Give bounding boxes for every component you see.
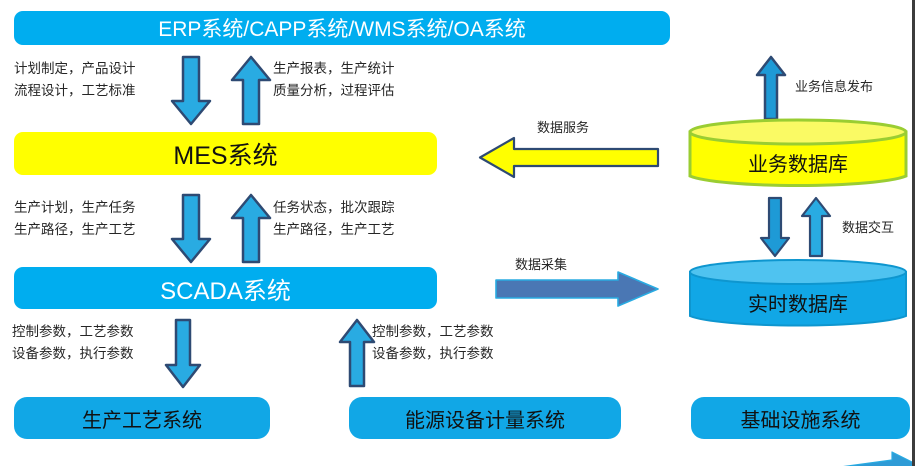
label-data-exchange: 数据交互 bbox=[842, 217, 894, 236]
label-scada-to-mes-up-line1: 任务状态，批次跟踪 bbox=[273, 197, 395, 219]
node-infrastructure-system[interactable]: 基础设施系统 bbox=[691, 397, 910, 439]
node-realtime-database[interactable]: 实时数据库 bbox=[686, 258, 910, 330]
diagram-canvas: ERP系统/CAPP系统/WMS系统/OA系统 计划制定，产品设计 流程设计，工… bbox=[0, 0, 915, 466]
label-mes-to-erp-up-line1: 生产报表，生产统计 bbox=[273, 58, 395, 80]
node-business-database[interactable]: 业务数据库 bbox=[686, 118, 910, 190]
realtime-database-label: 实时数据库 bbox=[686, 288, 910, 317]
label-mes-to-erp-up: 生产报表，生产统计 质量分析，过程评估 bbox=[273, 58, 395, 102]
label-device-to-scada-up-line1: 控制参数，工艺参数 bbox=[372, 321, 494, 343]
label-device-to-scada-up: 控制参数，工艺参数 设备参数，执行参数 bbox=[372, 321, 494, 365]
node-scada-system[interactable]: SCADA系统 bbox=[14, 267, 437, 309]
label-business-publish: 业务信息发布 bbox=[795, 76, 873, 95]
label-erp-to-mes-down-line1: 计划制定，产品设计 bbox=[14, 58, 136, 80]
arrow-data-service-left bbox=[478, 135, 660, 180]
node-erp-capp-wms-oa[interactable]: ERP系统/CAPP系统/WMS系统/OA系统 bbox=[14, 11, 670, 45]
arrow-erp-to-mes-down bbox=[170, 55, 212, 127]
label-scada-to-device-down: 控制参数，工艺参数 设备参数，执行参数 bbox=[12, 321, 134, 365]
label-erp-to-mes-down: 计划制定，产品设计 流程设计，工艺标准 bbox=[14, 58, 136, 102]
arrow-realtime-to-business-up bbox=[800, 196, 832, 258]
label-scada-to-device-down-line1: 控制参数，工艺参数 bbox=[12, 321, 134, 343]
business-database-label: 业务数据库 bbox=[686, 148, 910, 177]
arrow-business-publish-up bbox=[755, 55, 787, 121]
label-data-service: 数据服务 bbox=[537, 117, 589, 136]
label-scada-to-mes-up: 任务状态，批次跟踪 生产路径，生产工艺 bbox=[273, 197, 395, 241]
arrow-device-to-scada-up bbox=[338, 318, 376, 388]
label-scada-to-mes-up-line2: 生产路径，生产工艺 bbox=[273, 219, 395, 241]
arrow-business-to-realtime-down bbox=[759, 196, 791, 258]
node-energy-metering-system[interactable]: 能源设备计量系统 bbox=[349, 397, 621, 439]
arrow-clipped-bottom-right bbox=[818, 452, 915, 466]
label-mes-to-scada-down: 生产计划，生产任务 生产路径，生产工艺 bbox=[14, 197, 136, 241]
label-mes-to-scada-down-line1: 生产计划，生产任务 bbox=[14, 197, 136, 219]
arrow-scada-to-mes-up bbox=[230, 193, 272, 265]
label-mes-to-scada-down-line2: 生产路径，生产工艺 bbox=[14, 219, 136, 241]
node-production-process-system[interactable]: 生产工艺系统 bbox=[14, 397, 270, 439]
node-mes-system[interactable]: MES系统 bbox=[14, 132, 437, 175]
arrow-mes-to-erp-up bbox=[230, 55, 272, 127]
label-scada-to-device-down-line2: 设备参数，执行参数 bbox=[12, 343, 134, 365]
label-mes-to-erp-up-line2: 质量分析，过程评估 bbox=[273, 80, 395, 102]
arrow-data-collect-right bbox=[494, 270, 660, 308]
arrow-mes-to-scada-down bbox=[170, 193, 212, 265]
arrow-scada-to-device-down bbox=[164, 318, 202, 390]
label-erp-to-mes-down-line2: 流程设计，工艺标准 bbox=[14, 80, 136, 102]
label-device-to-scada-up-line2: 设备参数，执行参数 bbox=[372, 343, 494, 365]
